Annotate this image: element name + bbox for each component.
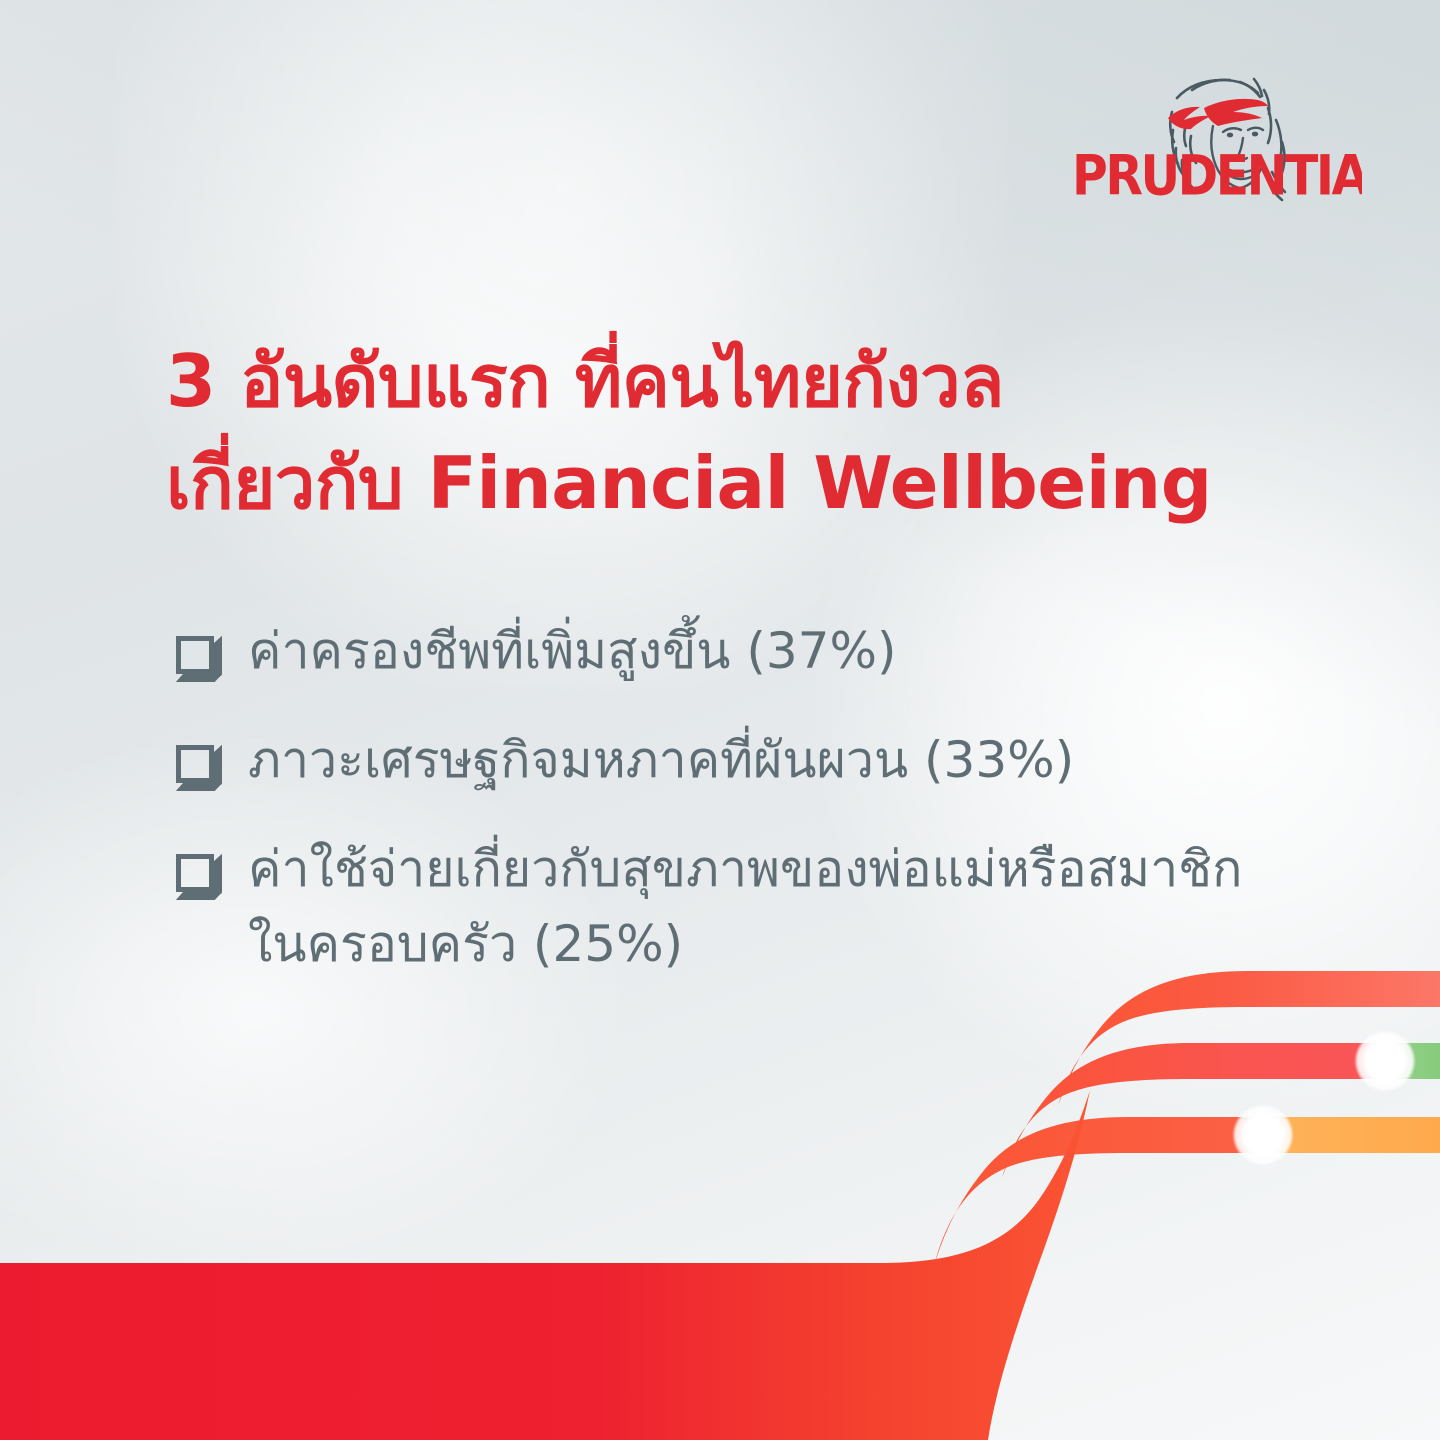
list-item: ค่าใช้จ่ายเกี่ยวกับสุขภาพของพ่อแม่หรือสม…	[176, 832, 1256, 982]
page-title: 3 อันดับแรก ที่คนไทยกังวล เกี่ยวกับ Fina…	[166, 330, 1226, 534]
list-item: ภาวะเศรษฐกิจมหภาคที่ผันผวน (33%)	[176, 723, 1256, 798]
headline-line-2: เกี่ยวกับ Financial Wellbeing	[166, 432, 1226, 534]
concerns-list: ค่าครองชีพที่เพิ่มสูงขึ้น (37%) ภาวะเศรษ…	[176, 614, 1256, 1016]
list-item-label: ภาวะเศรษฐกิจมหภาคที่ผันผวน (33%)	[248, 723, 1256, 798]
list-item: ค่าครองชีพที่เพิ่มสูงขึ้น (37%)	[176, 614, 1256, 689]
poster-canvas: PRUDENTIAL 3 อันดับแรก ที่คนไทยกังวล เกี…	[0, 0, 1440, 1440]
checkbox-square-icon	[176, 854, 222, 900]
list-item-label: ค่าครองชีพที่เพิ่มสูงขึ้น (37%)	[248, 614, 1256, 689]
list-item-label: ค่าใช้จ่ายเกี่ยวกับสุขภาพของพ่อแม่หรือสม…	[248, 832, 1256, 982]
prudential-logo: PRUDENTIAL	[1072, 60, 1362, 210]
checkbox-square-icon	[176, 636, 222, 682]
checkbox-square-icon	[176, 745, 222, 791]
prudential-wordmark: PRUDENTIAL	[1072, 144, 1362, 209]
headline-line-1: 3 อันดับแรก ที่คนไทยกังวล	[166, 330, 1226, 432]
